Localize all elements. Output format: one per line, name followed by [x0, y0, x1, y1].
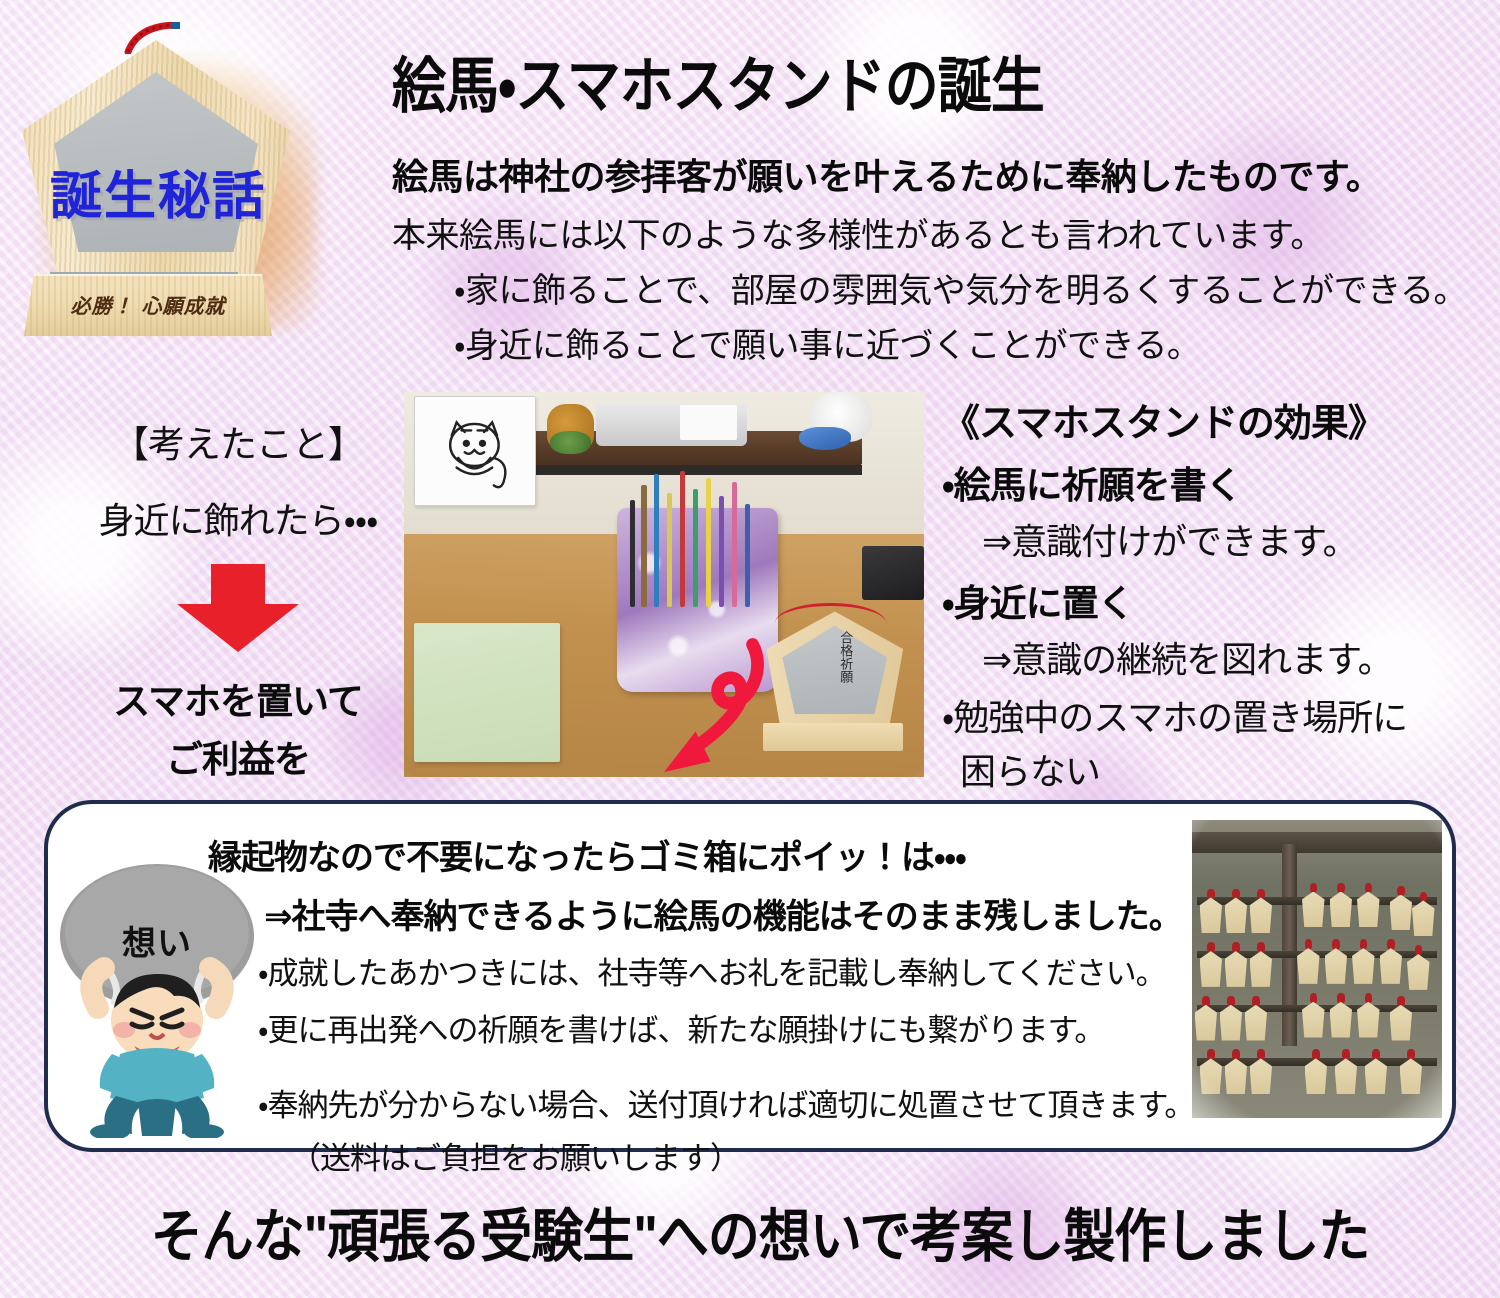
photo-shelf-rail — [518, 465, 861, 475]
page-title: 絵馬・スマホスタンドの誕生 — [392, 36, 1044, 124]
desk-with-ema-stand-photo: 合格祈願 — [404, 392, 924, 777]
photo-dark-object — [862, 546, 924, 600]
intro-bullet-1: ・家に飾ることで、部屋の雰囲気や気分を明るくすることができる。 — [454, 263, 1467, 312]
intro-body: 本来絵馬には以下のような多様性があるとも言われています。 ・家に飾ることで、部屋… — [392, 208, 1467, 367]
effect-2-bold: ・身近に置く — [942, 573, 1487, 627]
left-subtitle: 身近に飾れたら・・・ — [78, 492, 398, 544]
left-column: 【考えたこと】 身近に飾れたら・・・ スマホを置いて ご利益を — [78, 414, 398, 783]
effects-title: 《スマホスタンドの効果》 — [942, 392, 1487, 447]
intro-bullet-2: ・身近に飾ることで願い事に近づくことができる。 — [454, 318, 1467, 367]
photo-white-block — [680, 405, 737, 440]
cat-drawing-icon — [425, 411, 524, 492]
intro-body-line: 本来絵馬には以下のような多様性があるとも言われています。 — [392, 208, 1467, 257]
panel-headline: 縁起物なので不要になったらゴミ箱にポイッ！は・・・ ⇒社寺へ奉納できるように絵馬… — [208, 830, 1182, 938]
ema-badge-title: 誕生秘話 — [24, 154, 292, 229]
footer-tagline: そんな"頑張る受験生"への想いで考案し製作しました — [100, 1190, 1420, 1273]
curved-red-arrow-icon — [633, 631, 794, 773]
photo-green-notebook — [414, 623, 560, 762]
left-result-line1: スマホを置いて — [78, 671, 398, 725]
panel-notes-list: ・成就したあかつきには、社寺等へお礼を記載し奉納してください。 ・更に再出発への… — [258, 948, 1194, 1178]
panel-note-2: ・更に再出発への祈願を書けば、新たな願掛けにも繋がります。 — [258, 1005, 1194, 1050]
effect-3-line1: ・勉強中のスマホの置き場所に — [942, 689, 1487, 741]
panel-note-3: ・奉納先が分からない場合、送付頂ければ適切に処置させて頂きます。 — [258, 1080, 1194, 1125]
left-result-line2: ご利益を — [78, 729, 398, 783]
photo-blue-ornament — [799, 427, 851, 450]
shrine-ema-wall-photo — [1192, 820, 1442, 1118]
panel-headline-line1: 縁起物なので不要になったらゴミ箱にポイッ！は・・・ — [208, 830, 1182, 879]
panel-note-1: ・成就したあかつきには、社寺等へお礼を記載し奉納してください。 — [258, 948, 1194, 993]
infographic-page: 誕生秘話 必勝！ 心願成就 絵馬・スマホスタンドの誕生 絵馬は神社の参拝客が願い… — [0, 0, 1500, 1298]
panel-headline-line2: ⇒社寺へ奉納できるように絵馬の機能はそのまま残しました。 — [264, 889, 1182, 938]
ema-base-label: 必勝！ 心願成就 — [24, 290, 272, 319]
effect-2-sub: ⇒意識の継続を図れます。 — [982, 631, 1487, 683]
panel-note-4: （送料はご負担をお願いします） — [290, 1133, 1194, 1178]
ema-plaque-badge: 誕生秘話 必勝！ 心願成就 — [6, 16, 336, 346]
effect-1-sub: ⇒意識付けができます。 — [982, 513, 1487, 565]
photo-ema-wish-text: 合格祈願 — [838, 631, 852, 683]
left-heading: 【考えたこと】 — [78, 414, 398, 468]
intro-lead-text: 絵馬は神社の参拝客が願いを叶えるために奉納したものです。 — [392, 148, 1381, 200]
photo-shrine-roof — [1192, 832, 1442, 853]
effect-1-bold: ・絵馬に祈願を書く — [942, 455, 1487, 509]
effect-3-line2: 困らない — [960, 743, 1487, 795]
down-arrow-icon — [173, 564, 303, 652]
right-column-effects: 《スマホスタンドの効果》 ・絵馬に祈願を書く ⇒意識付けができます。 ・身近に置… — [942, 392, 1487, 795]
photo-shrine-post — [1282, 844, 1297, 1047]
photo-ornament-green — [550, 431, 592, 454]
